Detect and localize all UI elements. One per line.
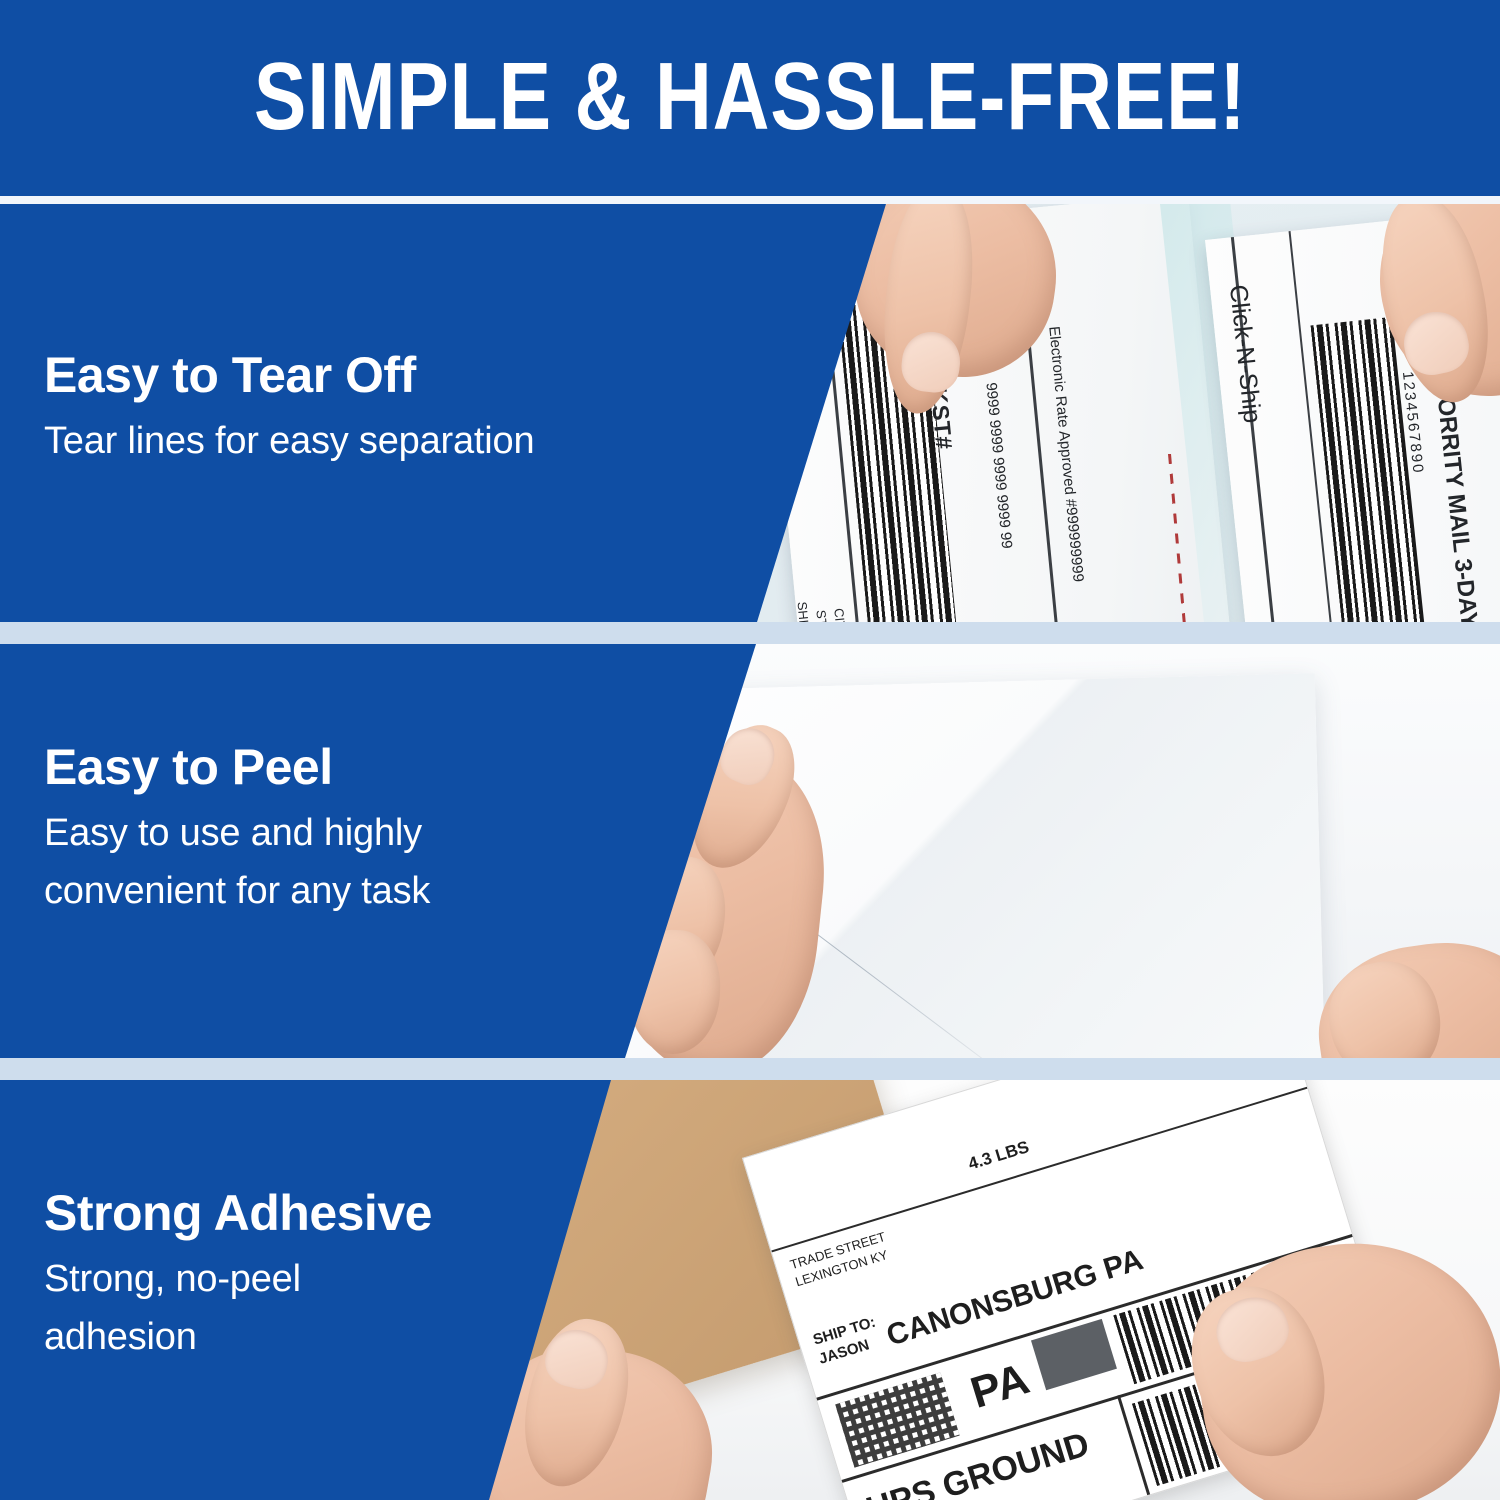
feature-copy-tear-off: Easy to Tear Off Tear lines for easy sep… <box>44 348 534 471</box>
service-brand-right: Click-N-Ship <box>1223 283 1266 424</box>
feature-heading-tear-off: Easy to Tear Off <box>44 348 534 403</box>
addr-line-2-left: STREET <box>813 609 833 622</box>
feature-subtext-adhesive-line2: adhesion <box>44 1309 432 1367</box>
feature-subtext-peel-line2: convenient for any task <box>44 863 430 921</box>
panel-divider-2 <box>0 1058 1500 1080</box>
feature-copy-adhesive: Strong Adhesive Strong, no-peel adhesion <box>44 1186 432 1367</box>
page-title: SIMPLE & HASSLE-FREE! <box>254 49 1247 145</box>
label-number-left: 9999 9999 9999 9999 99 <box>982 382 1015 550</box>
state-code: PA <box>965 1354 1035 1419</box>
rate-line-left: Electronic Rate Approved #999999999 <box>1045 325 1087 582</box>
feature-subtext-adhesive-line1: Strong, no-peel <box>44 1251 432 1309</box>
feature-subtext-peel-line1: Easy to use and highly <box>44 805 430 863</box>
feature-heading-peel: Easy to Peel <box>44 740 430 795</box>
weight-value: 4.3 LBS <box>966 1137 1031 1174</box>
panel-divider-1 <box>0 622 1500 644</box>
feature-copy-peel: Easy to Peel Easy to use and highly conv… <box>44 740 430 921</box>
feature-heading-adhesive: Strong Adhesive <box>44 1186 432 1241</box>
marketing-infographic: SIMPLE & HASSLE-FREE! CCCC KST# 9999 999… <box>0 0 1500 1500</box>
feature-panel-adhesive: 1 OF 1 4.3 LBS TRADE STREET LEXINGTON KY… <box>0 1080 1500 1500</box>
feature-subtext-tear-off: Tear lines for easy separation <box>44 413 534 471</box>
header-banner: SIMPLE & HASSLE-FREE! <box>0 0 1500 200</box>
header-divider <box>0 196 1500 204</box>
feature-panel-peel: Easy to Peel Easy to use and highly conv… <box>0 644 1500 1058</box>
feature-panel-tear-off: CCCC KST# 9999 9999 9999 9999 99 Electro… <box>0 204 1500 622</box>
